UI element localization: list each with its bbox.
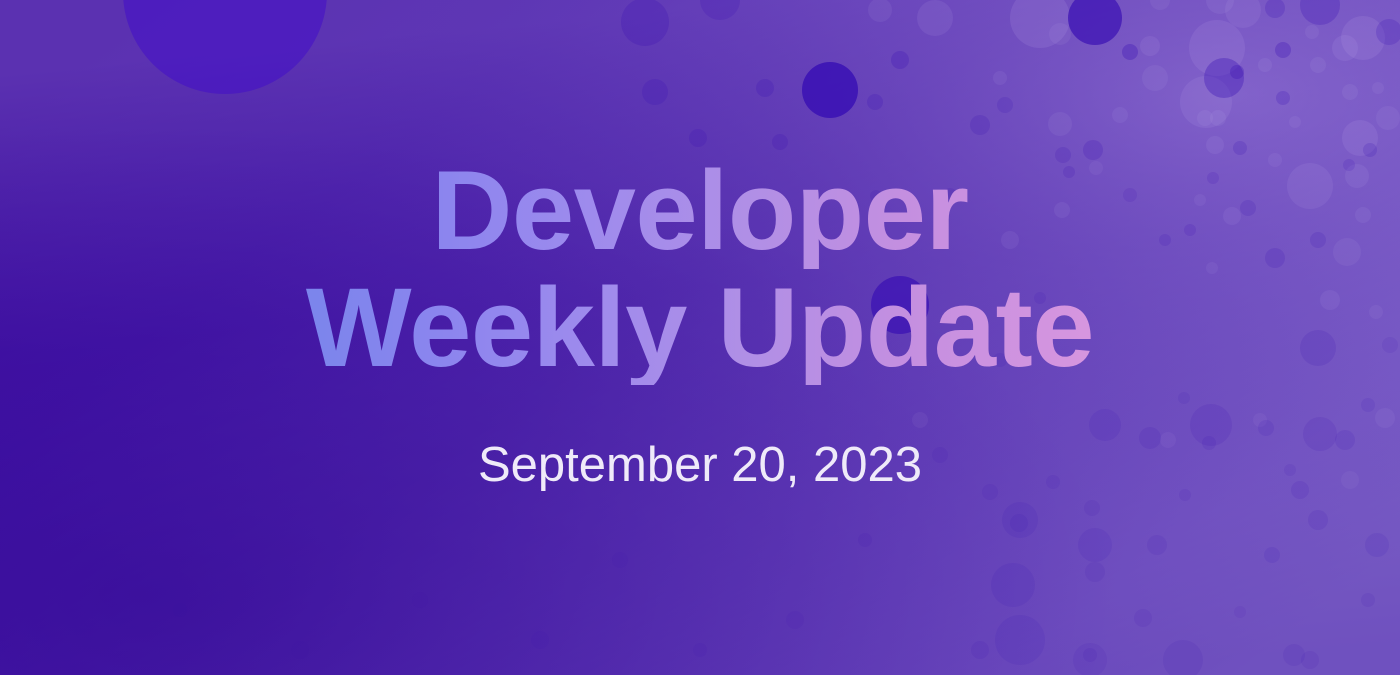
banner-date-subtitle: September 20, 2023 xyxy=(478,437,922,493)
title-line-primary: Developer xyxy=(306,154,1094,268)
title-line-secondary: Weekly Update xyxy=(306,271,1094,385)
banner-content: Developer Weekly Update September 20, 20… xyxy=(0,0,1400,675)
developer-weekly-update-banner: Developer Weekly Update September 20, 20… xyxy=(0,0,1400,675)
banner-title: Developer Weekly Update xyxy=(306,154,1094,384)
